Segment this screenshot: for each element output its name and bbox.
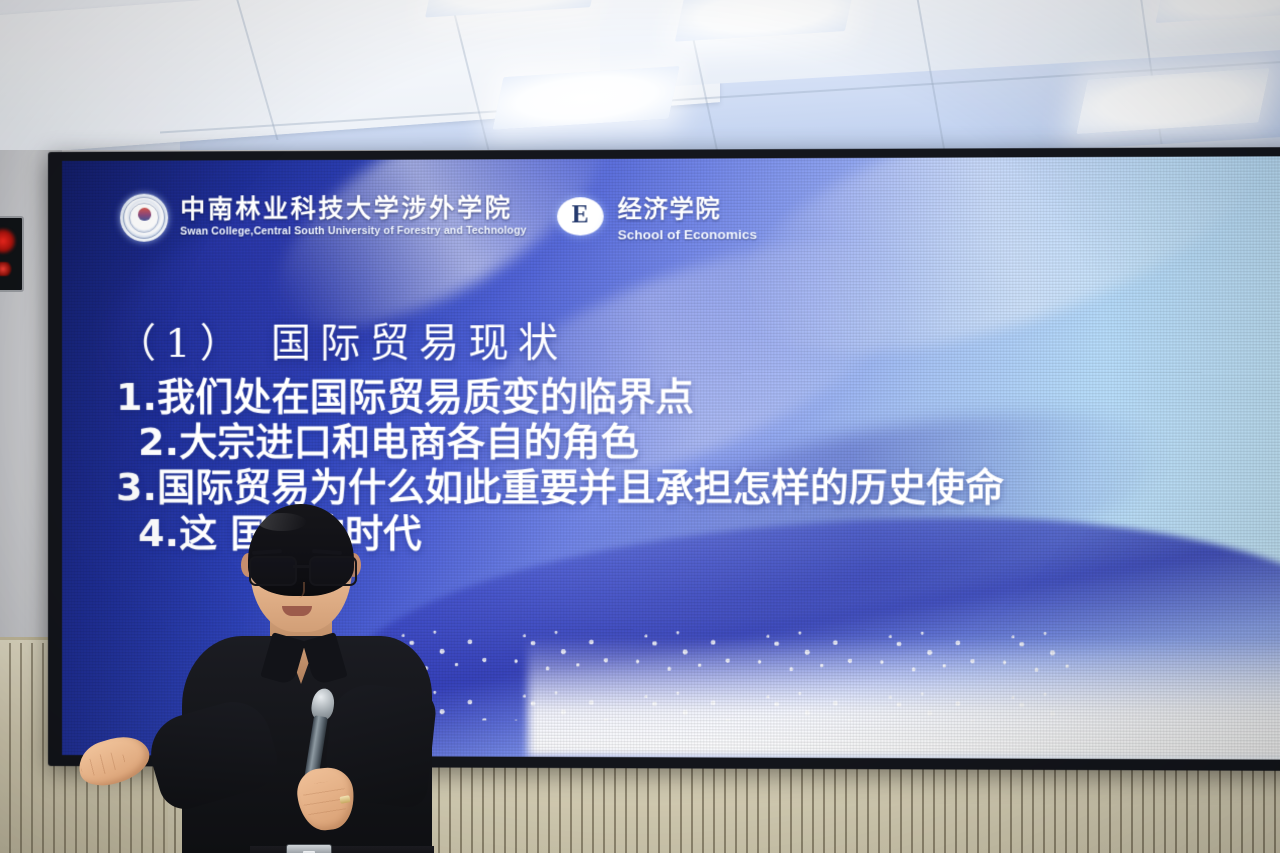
school-badge-letter: E — [572, 202, 589, 229]
university-name-cn: 中南林业科技大学涉外学院 — [180, 195, 526, 223]
slide-spray-speckle — [380, 625, 1074, 723]
glasses-bridge — [293, 565, 311, 568]
crest-ring-inner — [129, 202, 159, 232]
wall-led-clock — [0, 216, 24, 292]
lecture-hall-photo: 中南林业科技大学涉外学院 Swan College,Central South … — [0, 0, 1280, 853]
led-clock-digit-glow — [0, 228, 16, 254]
school-name-cn: 经济学院 — [618, 189, 757, 225]
school-logo-group: E 经济学院 School of Economics — [557, 189, 757, 243]
glasses-icon — [246, 556, 358, 582]
slide-bullet-1: 1.我们处在国际贸易质变的临界点 — [116, 374, 1280, 421]
university-name-en: Swan College,Central South University of… — [180, 226, 526, 238]
university-name-block: 中南林业科技大学涉外学院 Swan College,Central South … — [180, 195, 526, 238]
glasses-lens — [249, 556, 297, 586]
school-name-block: 经济学院 School of Economics — [618, 189, 757, 243]
led-clock-digit-glow — [0, 262, 12, 276]
glasses-lens — [309, 556, 357, 586]
university-crest-icon — [120, 193, 168, 241]
slide-logo-lockup: 中南林业科技大学涉外学院 Swan College,Central South … — [120, 189, 757, 244]
slide-bullet-2: 2.大宗进口和电商各自的角色 — [138, 420, 1280, 466]
open-left-hand — [73, 730, 154, 792]
school-e-badge-icon: E — [557, 197, 604, 235]
slide-title: （1） 国际贸易现状 — [116, 309, 1280, 369]
ceiling — [0, 0, 1280, 168]
belt-buckle — [286, 844, 332, 853]
belt — [250, 846, 434, 853]
university-logo-group: 中南林业科技大学涉外学院 Swan College,Central South … — [120, 192, 526, 241]
school-name-en: School of Economics — [618, 227, 757, 243]
presenter — [60, 496, 420, 853]
